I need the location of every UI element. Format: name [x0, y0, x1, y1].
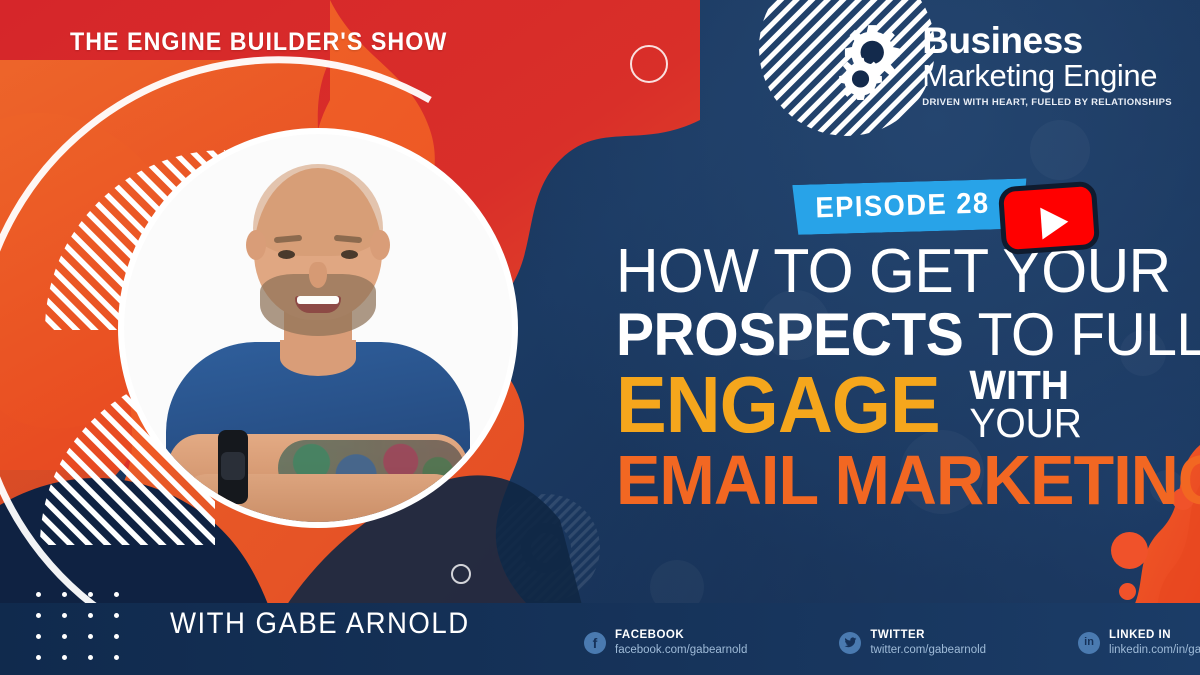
headline-small-with: WITH	[969, 367, 1082, 405]
social-item-twitter[interactable]: TWITTER twitter.com/gabearnold	[839, 628, 986, 657]
show-title: THE ENGINE BUILDER'S SHOW	[70, 28, 447, 57]
headline-line-2: PROSPECTS TO FULLY	[616, 306, 1110, 363]
ring-decor	[630, 45, 668, 83]
youtube-play-icon[interactable]	[998, 181, 1101, 256]
gear-icon	[834, 22, 912, 100]
logo-text: Business Marketing Engine DRIVEN WITH HE…	[922, 22, 1172, 108]
headline-line-2-light: TO FULLY	[978, 301, 1200, 368]
play-triangle-icon	[1040, 206, 1069, 240]
headline-line-3: ENGAGE WITH YOUR	[616, 367, 1110, 443]
facebook-icon: f	[584, 632, 606, 654]
headline-line-2-bold: PROSPECTS	[616, 301, 963, 368]
social-url-facebook: facebook.com/gabearnold	[615, 643, 747, 657]
social-label-twitter: TWITTER	[870, 628, 986, 642]
social-item-linkedin[interactable]: in LINKED IN linkedin.com/in/gabearnold	[1078, 628, 1200, 657]
headline: HOW TO GET YOUR PROSPECTS TO FULLY ENGAG…	[616, 243, 1110, 517]
podcast-cover-canvas: THE ENGINE BUILDER'S SHOW WITH GABE ARNO…	[0, 0, 1200, 675]
host-photo	[124, 134, 512, 522]
brand-logo: Business Marketing Engine DRIVEN WITH HE…	[834, 22, 1172, 108]
twitter-icon	[839, 632, 861, 654]
headline-small-stack: WITH YOUR	[969, 367, 1082, 442]
linkedin-icon: in	[1078, 632, 1100, 654]
portrait-eye-right	[341, 250, 358, 259]
portrait-collar	[280, 340, 356, 376]
portrait-mouth	[295, 296, 341, 313]
episode-badge: EPISODE 28	[792, 178, 1028, 235]
orange-dot-decor	[1111, 532, 1148, 569]
headline-line-4: EMAIL MARKETING	[616, 447, 1110, 514]
social-links: f FACEBOOK facebook.com/gabearnold TWITT…	[584, 628, 1200, 657]
bokeh-dot	[1030, 120, 1090, 180]
portrait-ear-left	[246, 230, 266, 260]
logo-word-marketing-engine: Marketing Engine	[922, 59, 1172, 94]
portrait-eye-left	[278, 250, 295, 259]
logo-word-business: Business	[922, 22, 1172, 59]
headline-accent-word: ENGAGE	[616, 360, 940, 449]
social-label-linkedin: LINKED IN	[1109, 628, 1200, 642]
social-label-facebook: FACEBOOK	[615, 628, 747, 642]
portrait-watch	[218, 430, 248, 504]
host-portrait	[118, 128, 518, 528]
social-url-twitter: twitter.com/gabearnold	[870, 643, 986, 657]
portrait-nose	[309, 262, 327, 288]
orange-dot-decor	[1119, 583, 1136, 600]
host-credit: WITH GABE ARNOLD	[170, 607, 470, 641]
logo-tagline: DRIVEN WITH HEART, FUELED BY RELATIONSHI…	[922, 97, 1172, 108]
portrait-ear-right	[370, 230, 390, 260]
social-item-facebook[interactable]: f FACEBOOK facebook.com/gabearnold	[584, 628, 747, 657]
ring-decor	[451, 564, 471, 584]
portrait-scalp	[253, 164, 383, 256]
headline-small-your: YOUR	[969, 405, 1082, 443]
dot-grid-decor	[36, 592, 140, 675]
social-url-linkedin: linkedin.com/in/gabearnold	[1109, 643, 1200, 657]
